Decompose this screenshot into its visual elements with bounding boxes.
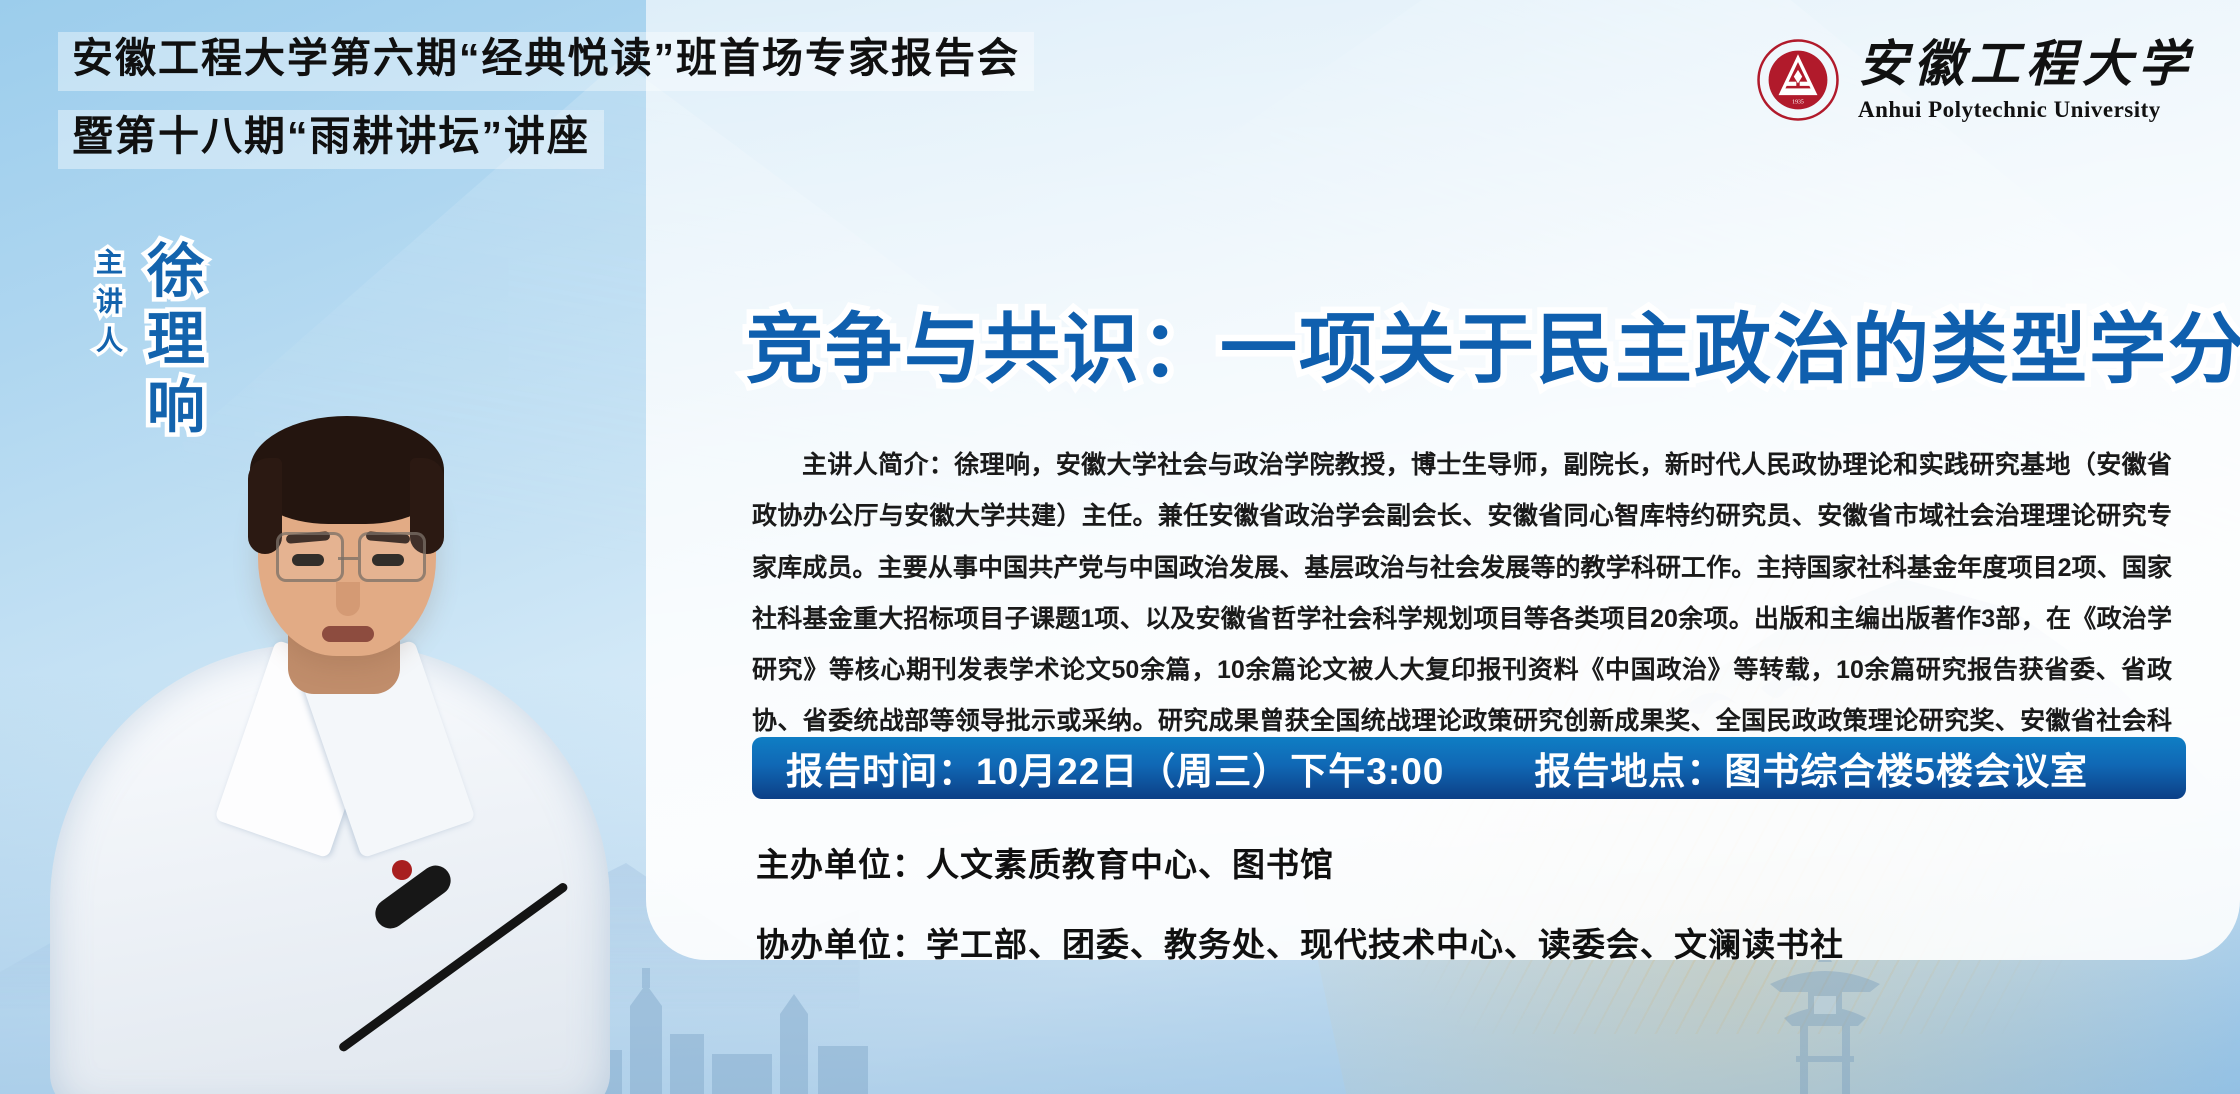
host-organizer: 主办单位：人文素质教育中心、图书馆 bbox=[756, 838, 1334, 886]
lecture-place: 报告地点：图书综合楼5楼会议室 bbox=[1534, 741, 2088, 795]
header-title-line-1: 安徽工程大学第六期“经典悦读”班首场专家报告会 bbox=[58, 32, 1034, 91]
university-name-cn: 安徽工程大学 bbox=[1858, 39, 2194, 89]
header-title-line-2: 暨第十八期“雨耕讲坛”讲座 bbox=[58, 110, 604, 169]
lecture-time: 报告时间：10月22日（周三）下午3:00 bbox=[786, 741, 1444, 795]
details-bar: 报告时间：10月22日（周三）下午3:00 报告地点：图书综合楼5楼会议室 bbox=[752, 737, 2186, 799]
speaker-name: 徐理响 bbox=[128, 240, 212, 444]
cohost-organizer: 协办单位：学工部、团委、教务处、现代技术中心、读委会、文澜读书社 bbox=[756, 918, 1844, 966]
university-logo: 1935 安徽工程大学 Anhui Polytechnic University bbox=[1756, 38, 2194, 122]
university-name-en: Anhui Polytechnic University bbox=[1858, 98, 2161, 121]
university-crest-icon: 1935 bbox=[1756, 38, 1840, 122]
portrait-glasses-right bbox=[358, 532, 426, 582]
portrait-glasses-bridge bbox=[338, 557, 358, 560]
speaker-label: 主讲人 bbox=[88, 248, 127, 365]
university-name-block: 安徽工程大学 Anhui Polytechnic University bbox=[1858, 39, 2194, 121]
portrait-glasses-left bbox=[276, 532, 344, 582]
lecture-poster: 安徽工程大学第六期“经典悦读”班首场专家报告会 暨第十八期“雨耕讲坛”讲座 19… bbox=[0, 0, 2240, 1094]
microphone-indicator bbox=[392, 860, 412, 880]
lecture-title: 竞争与共识：一项关于民主政治的类型学分析 bbox=[746, 288, 2216, 399]
crest-year: 1935 bbox=[1792, 100, 1804, 106]
portrait-nose bbox=[336, 582, 360, 616]
portrait-mouth bbox=[322, 626, 374, 642]
pagoda-silhouette bbox=[1740, 944, 1910, 1094]
